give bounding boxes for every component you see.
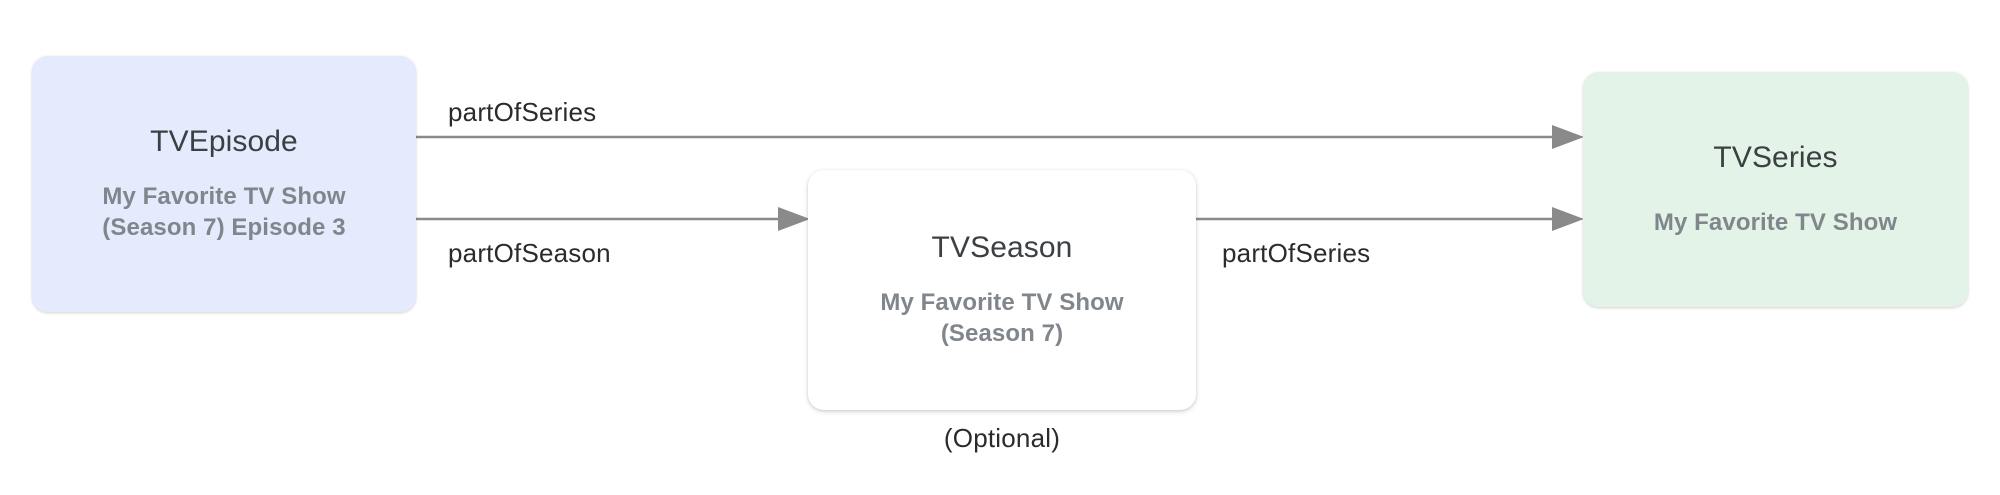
node-tvseason-subtitle: My Favorite TV Show (Season 7) (880, 287, 1123, 349)
diagram-canvas: partOfSeries partOfSeason partOfSeries T… (0, 0, 2000, 495)
node-tvseason-optional-note: (Optional) (808, 423, 1196, 454)
node-tvseries-subtitle: My Favorite TV Show (1654, 207, 1897, 238)
node-tvseason[interactable]: TVSeason My Favorite TV Show (Season 7) (808, 170, 1196, 410)
edge-label-partofseries-top: partOfSeries (448, 97, 596, 128)
edge-label-partofseason: partOfSeason (448, 238, 611, 269)
edge-episode-to-season (416, 207, 810, 231)
edge-label-partofseries-middle: partOfSeries (1222, 238, 1370, 269)
node-tvseason-title: TVSeason (932, 231, 1073, 266)
node-tvseries-title: TVSeries (1713, 141, 1837, 176)
edge-season-to-series (1196, 207, 1584, 231)
node-tvepisode-subtitle: My Favorite TV Show (Season 7) Episode 3 (102, 181, 345, 243)
node-tvepisode[interactable]: TVEpisode My Favorite TV Show (Season 7)… (32, 56, 416, 312)
node-tvseries[interactable]: TVSeries My Favorite TV Show (1583, 72, 1968, 307)
node-tvepisode-title: TVEpisode (150, 125, 298, 160)
edge-episode-to-series (416, 125, 1584, 149)
